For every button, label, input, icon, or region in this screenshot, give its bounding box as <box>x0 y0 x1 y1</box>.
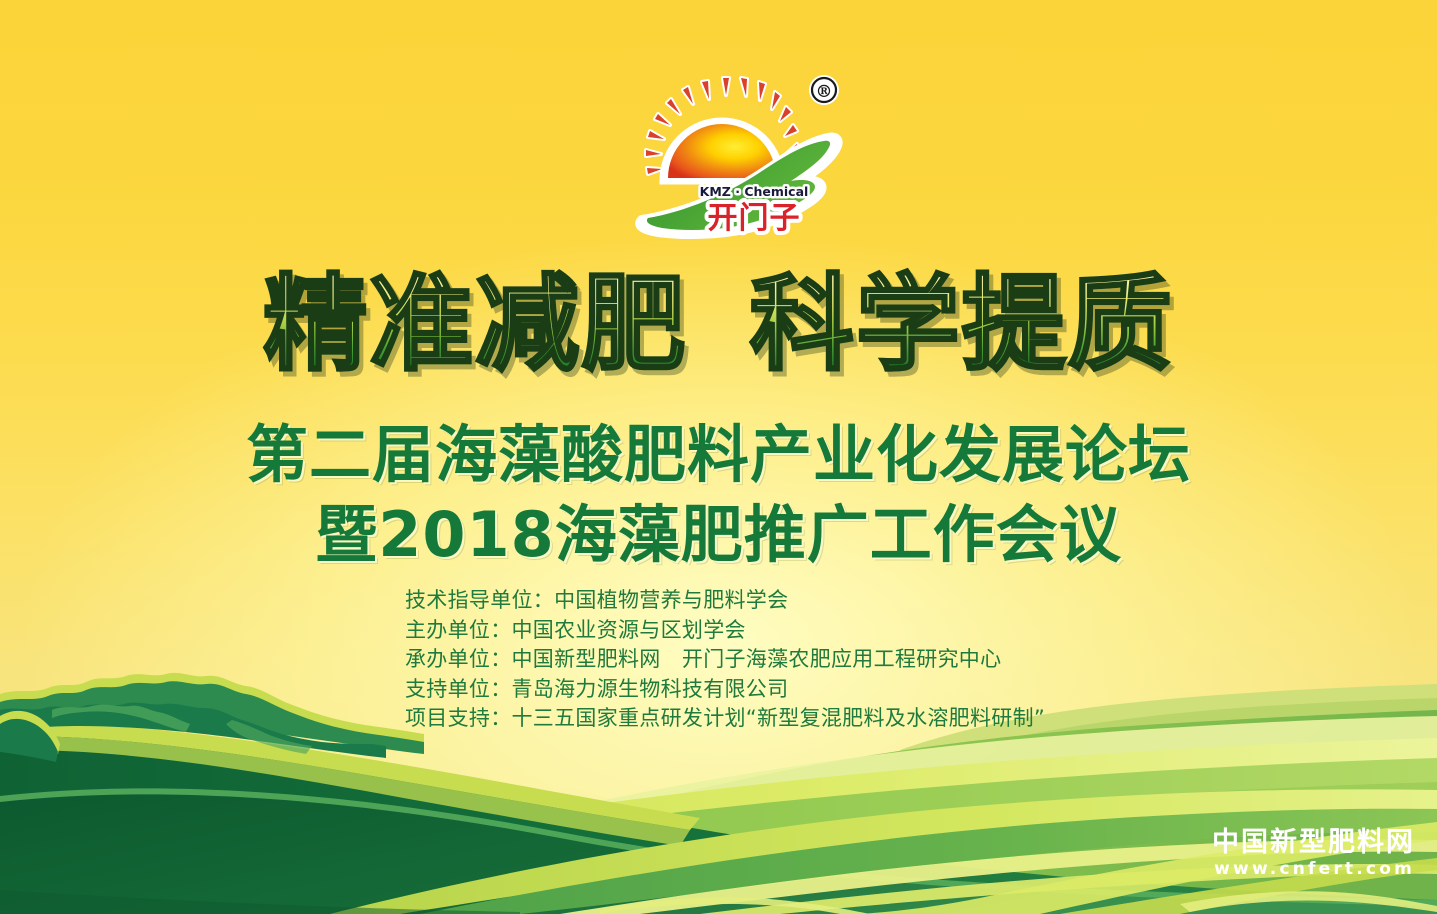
brand-latin: KMZ · Chemical <box>700 184 809 199</box>
detail-line-technical-guidance: 技术指导单位：中国植物营养与肥料学会 <box>405 586 1185 616</box>
subtitle-line-1: 第二届海藻酸肥料产业化发展论坛 <box>0 404 1437 494</box>
brand-text-block: KMZ · Chemical KMZ · Chemical 开门子 开门子 <box>700 184 809 236</box>
headline-row: 精准减肥 科学提质 <box>0 272 1437 376</box>
detail-line-project-support: 项目支持：十三五国家重点研发计划“新型复混肥料及水溶肥料研制” <box>405 704 1185 734</box>
logo-svg: ® KMZ · Chemical KMZ · Chemical 开门子 开门子 <box>628 68 848 248</box>
detail-line-organizer: 主办单位：中国农业资源与区划学会 <box>405 616 1185 646</box>
kmz-logo: ® KMZ · Chemical KMZ · Chemical 开门子 开门子 <box>628 68 848 248</box>
watermark: 中国新型肥料网 www.cnfert.com <box>1212 827 1415 880</box>
banner-canvas: ® KMZ · Chemical KMZ · Chemical 开门子 开门子 … <box>0 0 1437 914</box>
detail-line-supporter: 支持单位：青岛海力源生物科技有限公司 <box>405 675 1185 705</box>
headline-part-1: 精准减肥 <box>263 272 687 376</box>
registered-mark-icon: ® <box>816 82 833 102</box>
watermark-site-name: 中国新型肥料网 <box>1212 827 1415 859</box>
details-block: 技术指导单位：中国植物营养与肥料学会 主办单位：中国农业资源与区划学会 承办单位… <box>405 586 1185 734</box>
brand-cn: 开门子 <box>708 201 801 236</box>
subtitle-line-2: 暨2018海藻肥推广工作会议 <box>0 484 1437 574</box>
detail-line-co-organizer: 承办单位：中国新型肥料网 开门子海藻农肥应用工程研究中心 <box>405 645 1185 675</box>
headline-part-2: 科学提质 <box>750 272 1174 376</box>
watermark-url: www.cnfert.com <box>1212 859 1415 880</box>
